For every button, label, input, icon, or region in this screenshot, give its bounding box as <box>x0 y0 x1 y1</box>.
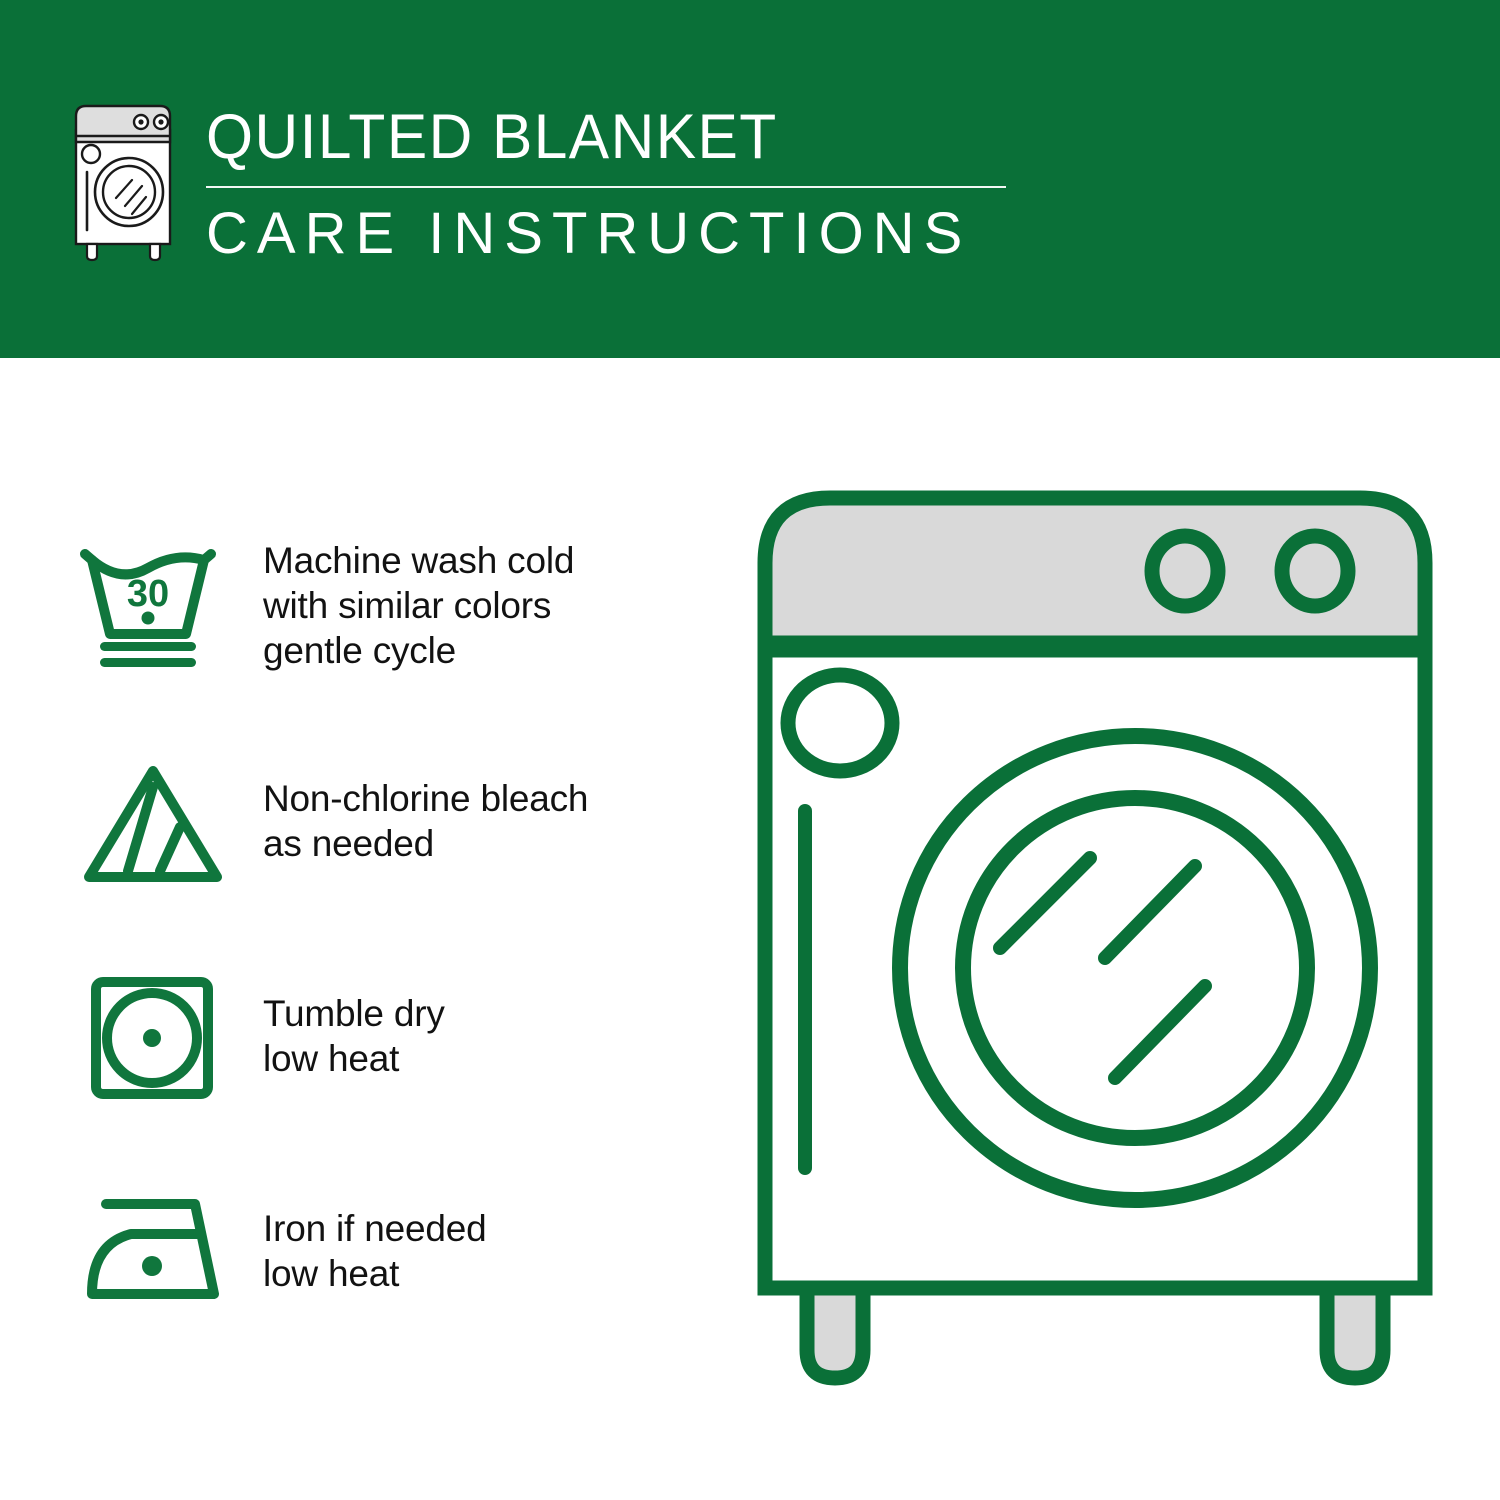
knob-left <box>1152 536 1218 606</box>
detergent-dial <box>788 675 892 771</box>
non-chlorine-bleach-triangle-icon <box>60 751 245 891</box>
care-line: gentle cycle <box>263 628 720 673</box>
care-row-iron: Iron if needed low heat <box>60 1143 720 1358</box>
wash-temperature-value: 30 <box>126 573 168 615</box>
care-line: Tumble dry <box>263 991 720 1036</box>
care-instruction-list: 30 Machine wash cold with similar colors… <box>60 498 720 1358</box>
care-text-iron: Iron if needed low heat <box>245 1206 720 1296</box>
wash-tub-30-gentle-icon: 30 <box>60 536 245 676</box>
leg-left <box>807 1288 863 1378</box>
header-banner: QUILTED BLANKET CARE INSTRUCTIONS <box>0 0 1500 358</box>
title-block: QUILTED BLANKET CARE INSTRUCTIONS <box>206 96 1006 266</box>
care-line: Machine wash cold <box>263 538 720 583</box>
title-divider <box>206 186 1006 188</box>
tumble-dry-low-heat-icon <box>60 966 245 1106</box>
care-line: with similar colors <box>263 583 720 628</box>
iron-low-heat-icon <box>60 1186 245 1316</box>
care-line: low heat <box>263 1251 720 1296</box>
care-text-machine-wash: Machine wash cold with similar colors ge… <box>245 538 720 673</box>
care-line: Iron if needed <box>263 1206 720 1251</box>
knob-right <box>1282 536 1348 606</box>
care-text-bleach: Non-chlorine bleach as needed <box>245 776 720 866</box>
content-area: 30 Machine wash cold with similar colors… <box>0 358 1500 1500</box>
care-row-tumble-dry: Tumble dry low heat <box>60 928 720 1143</box>
leg-right <box>1327 1288 1383 1378</box>
care-row-machine-wash: 30 Machine wash cold with similar colors… <box>60 498 720 713</box>
care-row-bleach: Non-chlorine bleach as needed <box>60 713 720 928</box>
care-line: low heat <box>263 1036 720 1081</box>
washing-machine-icon <box>62 96 188 262</box>
page-title: QUILTED BLANKET <box>206 102 974 172</box>
page-subtitle: CARE INSTRUCTIONS <box>206 202 1006 266</box>
door-inner-ring <box>963 798 1307 1138</box>
header-content: QUILTED BLANKET CARE INSTRUCTIONS <box>62 96 1006 266</box>
care-line: as needed <box>263 821 720 866</box>
washing-machine-illustration <box>735 478 1465 1428</box>
care-line: Non-chlorine bleach <box>263 776 720 821</box>
care-text-tumble-dry: Tumble dry low heat <box>245 991 720 1081</box>
